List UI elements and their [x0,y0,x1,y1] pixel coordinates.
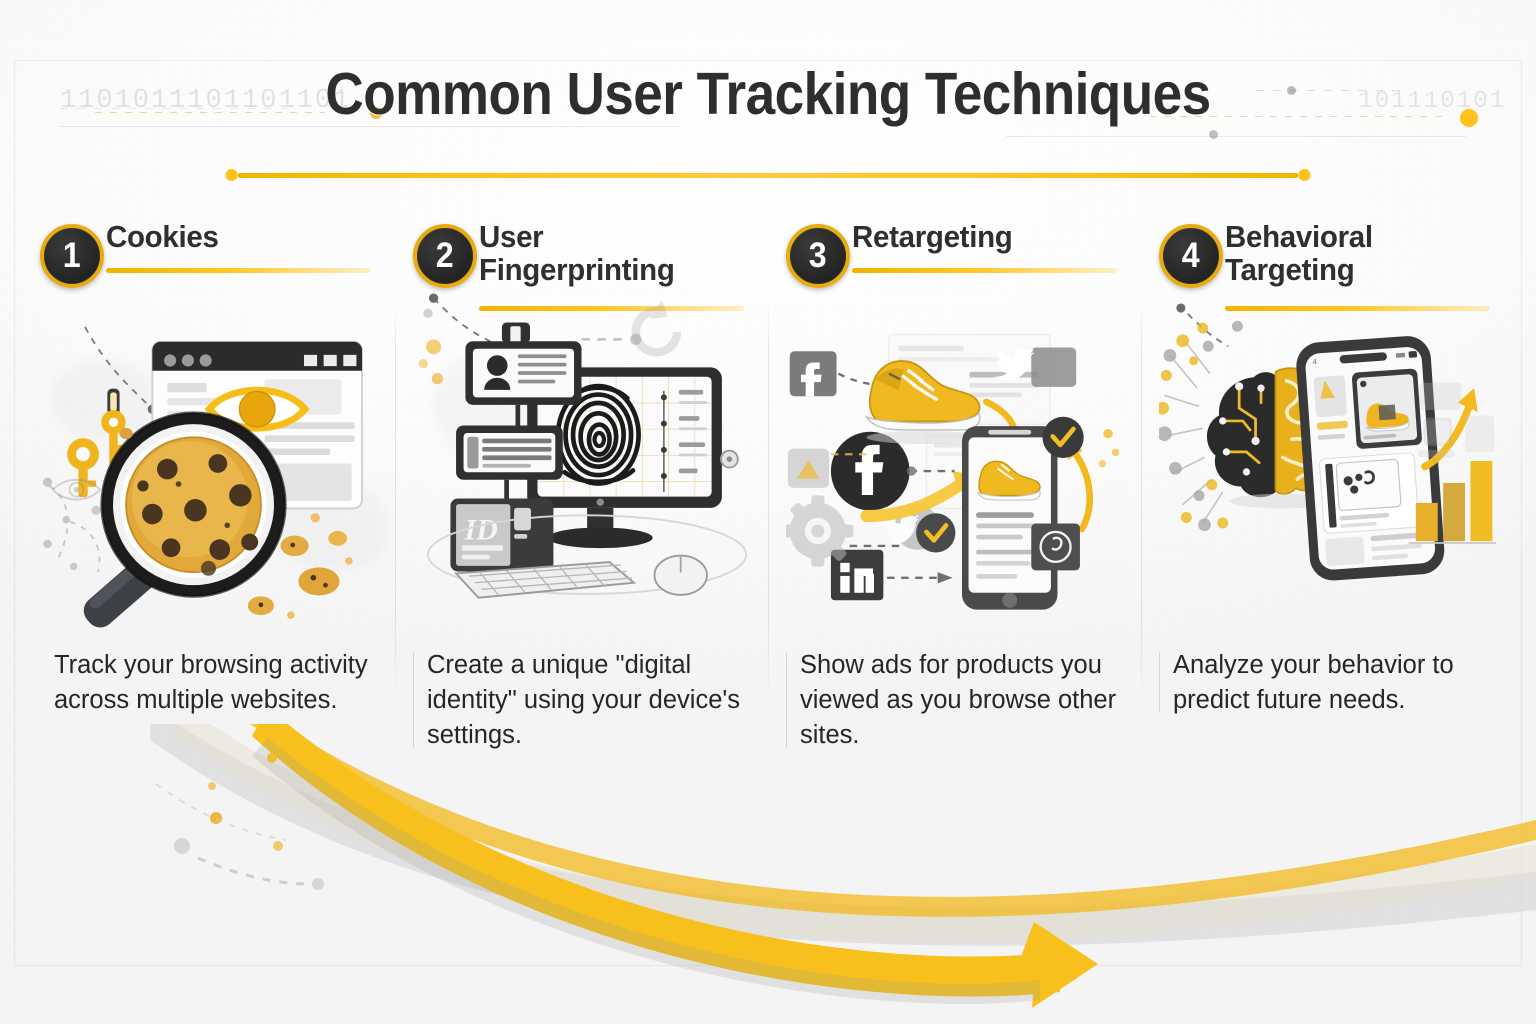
panel-3-underline [852,268,1117,273]
retargeting-ads-illustration [786,322,1123,652]
accent-dot [423,308,432,317]
title-underline-cap-right [1299,169,1311,181]
checkmark-icon-bottom [916,513,955,552]
infographic-canvas: 1101011101101101 101110101 Common User T… [0,0,1536,1024]
page-title: Common User Tracking Techniques [77,64,1459,126]
smartphone-feed: 4 [1295,335,1446,582]
deco-dot-gray-right-2 [1209,130,1218,139]
panel-3-caption: Show ads for products you viewed as you … [786,648,1125,754]
accent-dot [1112,449,1119,456]
instagram-icon-square [788,449,829,488]
step-badge-1: 1 [40,224,104,288]
sweep-dots [156,753,324,890]
checkmark-icon-top [1042,417,1083,458]
panel-retargeting[interactable]: 3 Retargeting [768,218,1141,763]
panel-3-header: 3 Retargeting [786,218,1123,314]
step-number-3: 3 [809,238,827,273]
step-badge-2: 2 [413,224,477,288]
panel-4-title: Behavioral Targeting [1225,218,1482,287]
smartphone [962,426,1057,609]
panel-1-header: 1 Cookies [40,218,377,314]
accent-dot [1103,429,1112,438]
step-number-2: 2 [436,238,454,273]
panel-3-title: Retargeting [852,218,1109,253]
dashed-connector [434,298,494,343]
step-number-1: 1 [63,238,81,273]
gear-icon [786,495,853,566]
deco-line-b [1006,136,1466,137]
curved-arrow-right [1074,452,1089,529]
connector-endpoint [429,293,438,302]
title-underline-cap-left [226,169,238,181]
id-badge-card [465,322,581,404]
panel-4-title-line-1: Behavioral [1225,220,1482,253]
panel-1-underline [106,268,371,273]
panel-2-caption: Create a unique "digital identity" using… [413,648,752,754]
accent-dot [426,339,441,354]
accent-dot [432,373,443,384]
sweep-ribbon-yellow-main [252,724,1060,997]
panel-2-title: User Fingerprinting [479,218,736,287]
header: 1101011101101101 101110101 Common User T… [0,64,1536,126]
facebook-icon-round [831,432,910,511]
panel-cookies[interactable]: 1 Cookies [22,218,395,763]
step-number-4: 4 [1182,238,1200,273]
id-record-card [456,425,563,479]
title-underline-bar [238,173,1299,178]
sweep-arrowhead [1022,922,1098,1008]
title-underline [216,172,1321,178]
id-card-label: ID [463,514,497,547]
progress-sweep-arrow [0,724,1536,1024]
cookie-magnifier-illustration [40,320,377,650]
pinterest-icon-square [1031,524,1080,571]
panel-1-caption: Track your browsing activity across mult… [40,648,379,718]
panel-2-title-line-1: User [479,220,736,253]
facebook-icon-square [790,351,837,396]
connector-endpoint [1176,303,1185,312]
refresh-icon [636,300,677,352]
sweep-ribbon-shadow [252,738,1040,1004]
dashed-track [582,334,642,345]
id-photo-card: ID [450,498,553,571]
panel-4-title-line-2: Targeting [1225,253,1482,286]
network-decoration [43,478,101,573]
step-badge-4: 4 [1159,224,1223,288]
accent-dot [419,359,428,368]
panel-1-title: Cookies [106,218,363,253]
fingerprint-device-illustration: ID [413,282,750,612]
panel-behavioral-targeting[interactable]: 4 Behavioral Targeting [1141,218,1514,763]
panel-user-fingerprinting[interactable]: 2 User Fingerprinting [395,218,768,763]
technique-panels: 1 Cookies [22,218,1514,763]
mouse [655,556,707,595]
accent-dot [1099,460,1106,467]
step-badge-3: 3 [786,224,850,288]
behavioral-brain-illustration: 4 [1159,286,1496,616]
deco-dot-gold-right [1460,109,1478,127]
panel-4-caption: Analyze your behavior to predict future … [1159,648,1498,718]
